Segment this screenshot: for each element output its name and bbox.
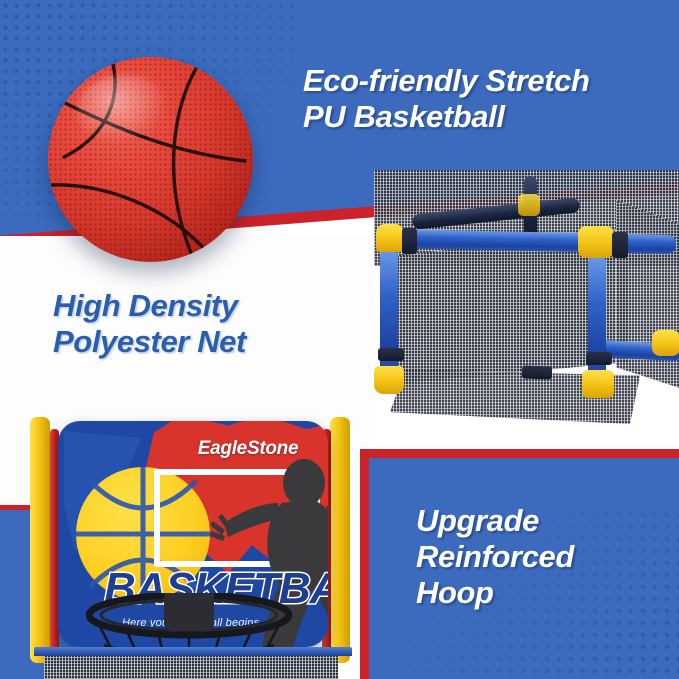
base-rail: [34, 647, 352, 656]
feature-title-upgrade-reinforced-hoop: Upgrade Reinforced Hoop: [416, 503, 676, 611]
net-mesh-right-panel: [616, 200, 679, 390]
rim-mounting-bracket: [164, 593, 214, 631]
feature-title-eco-friendly-pu-basketball: Eco-friendly Stretch PU Basketball: [303, 63, 675, 135]
net-joint-right: [652, 330, 679, 356]
net-joint-bottom-center: [582, 370, 614, 398]
net-joint-tee-center: [578, 226, 614, 258]
infographic-canvas: EagleStone 08: [0, 0, 679, 679]
net-joint-rear: [518, 194, 540, 216]
net-joint-elbow-bottom-left: [374, 366, 404, 394]
net-clip-center: [612, 232, 628, 258]
frame-post-right-yellow: [330, 417, 350, 663]
feature-title-high-density-polyester-net: High Density Polyester Net: [53, 288, 373, 360]
net-clip-bottom: [522, 365, 552, 379]
net-clip-left: [402, 228, 417, 254]
product-image-polyester-net-frame: [366, 170, 679, 452]
hoop-base-tray: [34, 647, 352, 679]
base-mesh: [44, 656, 338, 679]
basketball-sphere: [48, 57, 253, 262]
product-image-pu-basketball: [48, 57, 253, 262]
net-clip-lower-left: [378, 348, 404, 361]
basketball-highlight: [77, 75, 171, 145]
net-joint-elbow-top-left: [376, 224, 404, 252]
frame-post-left-yellow: [30, 417, 50, 663]
net-clip-lower-center: [586, 352, 612, 365]
product-image-backboard-hoop: EagleStone 08: [8, 415, 368, 679]
